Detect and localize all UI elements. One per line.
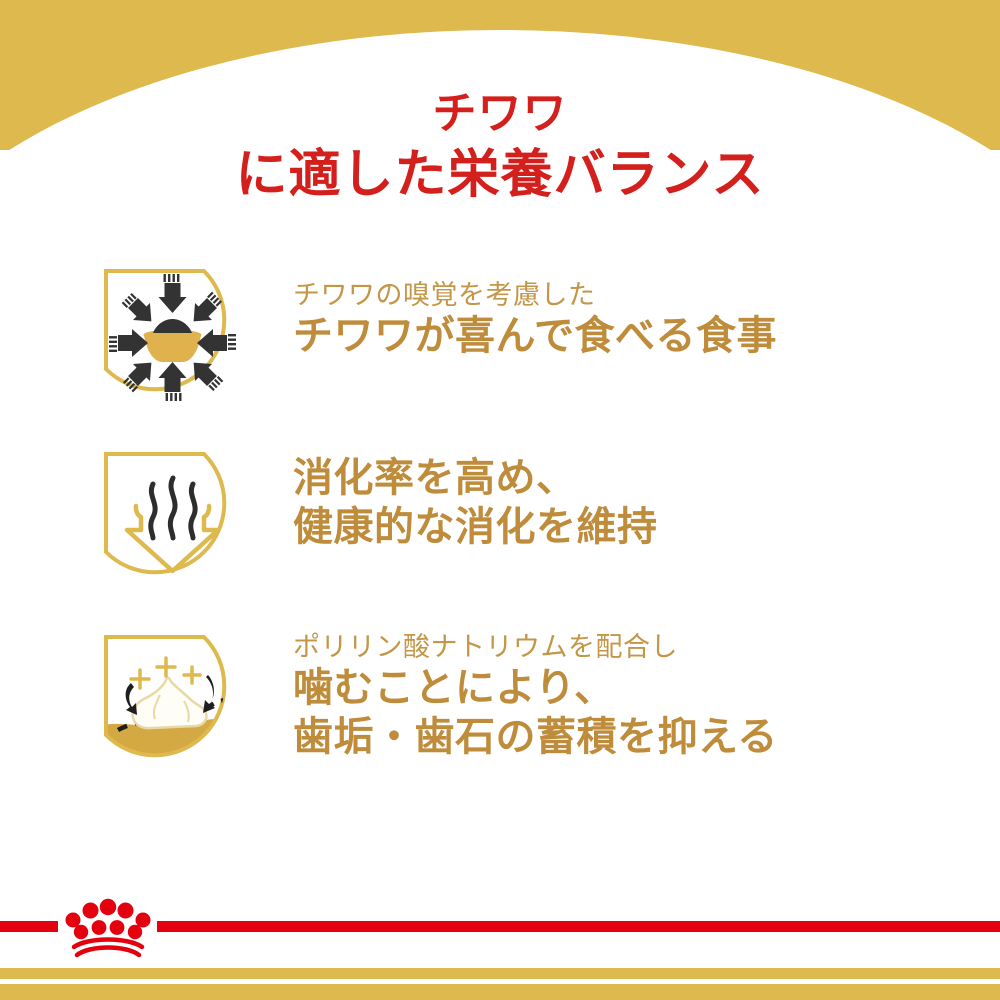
feature-subline: ポリリン酸ナトリウムを配合し (293, 631, 778, 664)
feature-text-aroma: チワワの嗅覚を考慮した チワワが喜んで食べる食事 (293, 265, 777, 361)
page-title: チワワ に適した栄養バランス (0, 92, 1000, 202)
title-line-2: に適した栄養バランス (0, 149, 1000, 202)
feature-mainline: 消化率を高め、 (293, 454, 658, 503)
feature-mainline: チワワが喜んで食べる食事 (293, 312, 777, 361)
footer-gold-bar-thin (0, 968, 1000, 979)
feature-mainline: 健康的な消化を維持 (293, 503, 658, 552)
digestion-steam-arrow-icon (100, 448, 245, 593)
feature-list: チワワの嗅覚を考慮した チワワが喜んで食べる食事 (0, 265, 1000, 814)
feature-item-aroma: チワワの嗅覚を考慮した チワワが喜んで食べる食事 (0, 265, 1000, 410)
footer-gold-bar-thick (0, 984, 1000, 1000)
feature-text-dental: ポリリン酸ナトリウムを配合し 噛むことにより、 歯垢・歯石の蓄積を抑える (293, 631, 778, 762)
bowl-aroma-icon (100, 265, 245, 410)
title-line-1: チワワ (0, 92, 1000, 137)
feature-mainline: 噛むことにより、 (293, 664, 778, 713)
tooth-tartar-icon (100, 631, 245, 776)
footer-rule-right (157, 921, 1000, 932)
product-infographic: チワワ に適した栄養バランス (0, 0, 1000, 1000)
feature-text-digestion: 消化率を高め、 健康的な消化を維持 (293, 448, 658, 552)
footer-rule-left (0, 921, 58, 932)
feature-item-dental: ポリリン酸ナトリウムを配合し 噛むことにより、 歯垢・歯石の蓄積を抑える (0, 631, 1000, 776)
feature-item-digestion: 消化率を高め、 健康的な消化を維持 (0, 448, 1000, 593)
royal-canin-crown-logo (58, 896, 158, 958)
feature-mainline: 歯垢・歯石の蓄積を抑える (293, 713, 778, 762)
feature-subline: チワワの嗅覚を考慮した (293, 279, 777, 312)
